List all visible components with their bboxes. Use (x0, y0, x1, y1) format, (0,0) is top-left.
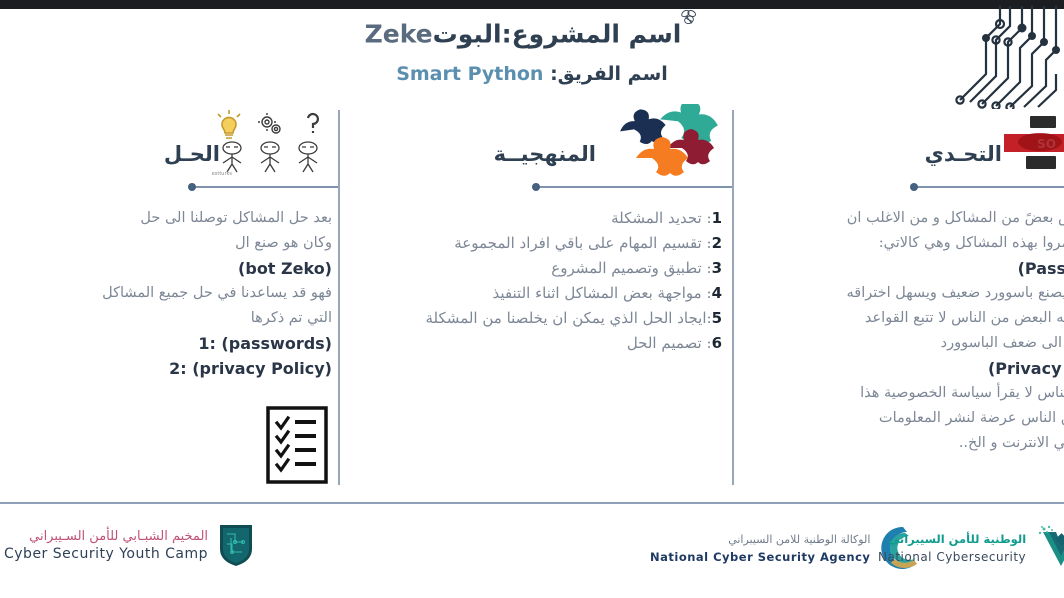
columns-container: الحـل (0, 108, 1064, 498)
challenge-bold-2: (Privacy Policy) (732, 356, 1064, 381)
method-item-text: ايجاد الحل الذي يمكن ان يخلصنا من المشكل… (426, 309, 707, 327)
method-item: 6: تصميم الحل (352, 331, 722, 356)
method-item-num: 4 (712, 284, 722, 302)
method-rule (338, 180, 732, 194)
method-item-text: مواجهة بعض المشاكل اثناء التنفيذ (493, 284, 702, 302)
method-item-num: 2 (712, 234, 722, 252)
svg-text:TEPOCAIDE - doodrestturks: TEPOCAIDE - doodrestturks (212, 171, 232, 176)
solution-rule (0, 180, 338, 194)
method-item-text: تصميم الحل (627, 334, 702, 352)
method-item-text: تطبيق وتصميم المشروع (551, 259, 701, 277)
idea-team-icon: TEPOCAIDE - doodrestturks (212, 110, 330, 180)
method-item-text: تحديد المشكلة (611, 209, 702, 227)
method-item: 2: تقسيم المهام على باقي افراد المجموعة (352, 231, 722, 256)
method-item-num: 3 (712, 259, 722, 277)
challenge-line-4: الذي تؤدي الى ضعف الباسوورد (732, 331, 1064, 356)
method-item: 5:ايجاد الحل الذي يمكن ان يخلصنا من المش… (352, 306, 722, 331)
challenge-body: واجه البعض بعضً من المشاكل و من الاغلب ا… (728, 194, 1064, 456)
logo-text-en: National Cybersecurity (878, 548, 1026, 566)
footer: المخيم الشبـابي للأمن السـيبراني Cyber S… (0, 504, 1064, 598)
solution-red-icon: SO (1000, 112, 1064, 178)
challenge-line-1: الناس قد مروا بهذه المشاكل وهي كالاتي: (732, 231, 1064, 256)
column-challenge: التحـدي SO و (732, 108, 1064, 498)
logo-text-block: المخيم الشبـابي للأمن السـيبراني Cyber S… (4, 528, 208, 563)
method-item: 4: مواجهة بعض المشاكل اثناء التنفيذ (352, 281, 722, 306)
challenge-line-0: واجه البعض بعضً من المشاكل و من الاغلب ا… (732, 206, 1064, 231)
challenge-line-7: والبيانات في الانترنت و الخ.. (732, 431, 1064, 456)
slide-poster: اسم المشروع:البوتZeke اسم الفريق: Smart … (0, 0, 1064, 598)
challenge-rule (732, 180, 1064, 194)
poster-header: اسم المشروع:البوتZeke اسم الفريق: Smart … (0, 8, 1064, 87)
solution-line-0: بعد حل المشاكل توصلنا الى حل (8, 206, 332, 231)
team-title: اسم الفريق: Smart Python (0, 61, 1064, 87)
column-solution: الحـل (0, 108, 338, 498)
bee-icon (679, 2, 699, 20)
method-item: 1: تحديد المشكلة (352, 206, 722, 231)
challenge-header: التحـدي SO (732, 108, 1064, 180)
project-title-ar: اسم المشروع: (502, 19, 682, 48)
project-title-en: Zeke (365, 19, 433, 48)
challenge-line-3: الاسباب بانه البعض من الناس لا تتبع القو… (732, 306, 1064, 331)
project-title: اسم المشروع:البوتZeke (0, 8, 1064, 51)
method-item: 3: تطبيق وتصميم المشروع (352, 256, 722, 281)
method-item-text: تقسيم المهام على باقي افراد المجموعة (454, 234, 701, 252)
solution-bold-3: 2: (privacy Policy) (8, 356, 332, 381)
logo-text-block: الوكالة الوطنية للامن السيبراني National… (650, 531, 870, 566)
solution-line-3: التي تم ذكرها (8, 306, 332, 331)
checklist-icon (266, 406, 328, 488)
logo-text-en: Cyber Security Youth Camp (4, 545, 208, 563)
puzzle-pieces-icon (614, 104, 718, 182)
logo-text-ar: الوكالة الوطنية للامن السيبراني (650, 531, 870, 548)
logo-text-en: National Cyber Security Agency (650, 548, 870, 566)
logo-text-ar: المخيم الشبـابي للأمن السـيبراني (4, 528, 208, 545)
challenge-bold-1: (Passwords) (732, 256, 1064, 281)
method-item-num: 6 (712, 334, 722, 352)
solution-bold-2: 1: (passwords) (8, 331, 332, 356)
column-method: المنهجيــة 1: تحديد (338, 108, 732, 498)
logo-text-ar: الوطنية للأمن السيبراني (878, 531, 1026, 548)
solution-header: الحـل (0, 108, 338, 180)
solution-line-2: فهو قد يساعدنا في حل جميع المشاكل (8, 281, 332, 306)
challenge-line-6: سيجعل من الناس عرضة لنشر المعلومات (732, 406, 1064, 431)
shield-icon (217, 522, 255, 568)
challenge-line-5: انه اغلب الناس لا يقرأ سياسة الخصوصية هذ… (732, 381, 1064, 406)
ncs-chevron-icon (1035, 524, 1064, 572)
team-label: اسم الفريق: (550, 63, 668, 85)
method-body: 1: تحديد المشكلة 2: تقسيم المهام على باق… (338, 194, 732, 356)
solution-line-1: وكان هو صنع ال (8, 231, 332, 256)
method-header: المنهجيــة (338, 108, 732, 180)
method-title: المنهجيــة (494, 142, 596, 166)
solution-body: بعد حل المشاكل توصلنا الى حل وكان هو صنع… (0, 194, 338, 381)
method-item-num: 1 (712, 209, 722, 227)
logo-national-cybersecurity: الوطنية للأمن السيبراني National Cyberse… (878, 524, 1064, 572)
team-name: Smart Python (396, 63, 543, 85)
solution-bold-1: (bot Zeko) (8, 256, 332, 281)
method-item-num: 5 (712, 309, 722, 327)
challenge-title: التحـدي (925, 142, 1002, 166)
challenge-line-2: البعض قد يصنع باسوورد ضعيف ويسهل اختراقه (732, 281, 1064, 306)
project-title-bot: البوت (433, 19, 502, 48)
logo-cyber-security-youth-camp: المخيم الشبـابي للأمن السـيبراني Cyber S… (4, 522, 255, 568)
logo-text-block: الوطنية للأمن السيبراني National Cyberse… (878, 531, 1026, 566)
